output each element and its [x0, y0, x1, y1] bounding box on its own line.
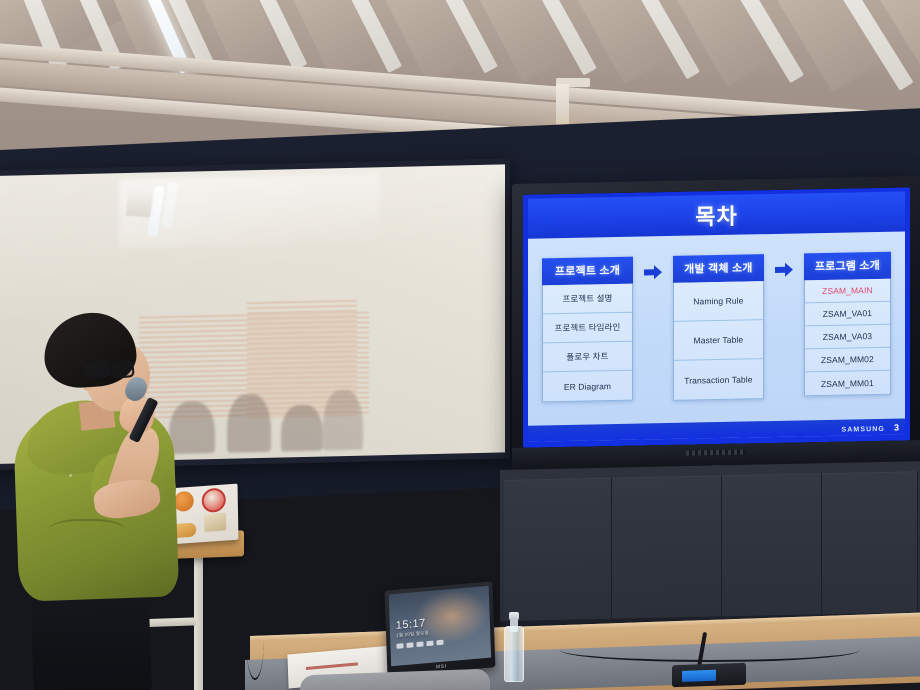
- slide-page-number: 3: [894, 423, 899, 433]
- speaker-vents: [686, 450, 746, 456]
- arrow-right-icon: [774, 260, 794, 280]
- slide-item: 프로젝트 타임라인: [543, 313, 632, 344]
- cabinet-door[interactable]: [822, 471, 918, 614]
- slide-item: Master Table: [674, 320, 763, 361]
- slide-footer: SAMSUNG 3: [842, 423, 900, 434]
- column-header: 프로그램 소개: [804, 252, 891, 281]
- column-items: ZSAM_MAIN ZSAM_VA01 ZSAM_VA03 ZSAM_MM02 …: [804, 279, 891, 397]
- slide-item: 프로젝트 설명: [543, 284, 632, 315]
- slide-item: Naming Rule: [674, 281, 763, 322]
- slide-item: ER Diagram: [543, 371, 632, 402]
- column-header: 개발 객체 소개: [673, 254, 764, 283]
- slide-item: ZSAM_VA03: [805, 325, 890, 350]
- cable: [246, 600, 264, 680]
- slide-item: ZSAM_MM02: [805, 348, 890, 373]
- lecture-room-photo: 목차 프로젝트 소개 프로젝트 설명 프로젝트 타임라인 플로우 차트 ER D…: [0, 0, 920, 690]
- cable: [560, 638, 860, 662]
- slide-column-2: 개발 객체 소개 Naming Rule Master Table Transa…: [673, 254, 764, 401]
- slide-item: Transaction Table: [674, 359, 763, 400]
- slide-column-1: 프로젝트 소개 프로젝트 설명 프로젝트 타임라인 플로우 차트 ER Diag…: [542, 257, 633, 403]
- microphone-control-console[interactable]: [672, 663, 746, 688]
- msi-laptop[interactable]: 15:17 1월 20일 월요일 MSI: [385, 581, 496, 676]
- lockscreen-status-icons: [396, 640, 443, 649]
- bottle-cap[interactable]: [509, 612, 519, 620]
- column-header: 프로젝트 소개: [542, 257, 633, 286]
- column-items: 프로젝트 설명 프로젝트 타임라인 플로우 차트 ER Diagram: [542, 284, 633, 403]
- slide-item: 플로우 차트: [543, 342, 632, 373]
- slide: 목차 프로젝트 소개 프로젝트 설명 프로젝트 타임라인 플로우 차트 ER D…: [523, 187, 910, 447]
- slide-item: ZSAM_MAIN: [805, 279, 890, 304]
- brand-logo: SAMSUNG: [842, 426, 885, 434]
- slide-item: ZSAM_VA01: [805, 302, 890, 327]
- presentation-display: 목차 프로젝트 소개 프로젝트 설명 프로젝트 타임라인 플로우 차트 ER D…: [512, 176, 920, 476]
- arrow-right-icon: [643, 262, 663, 282]
- cabinet-door[interactable]: [504, 478, 612, 621]
- slide-item: ZSAM_MM01: [805, 371, 890, 396]
- slide-body: 프로젝트 소개 프로젝트 설명 프로젝트 타임라인 플로우 차트 ER Diag…: [528, 231, 905, 441]
- presenter: [8, 305, 208, 690]
- cabinet-door[interactable]: [722, 473, 822, 616]
- water-bottle[interactable]: [504, 612, 524, 682]
- console-display: [682, 670, 716, 682]
- glasses-icon: [83, 360, 111, 380]
- cabinet-door[interactable]: [612, 475, 722, 618]
- column-items: Naming Rule Master Table Transaction Tab…: [673, 281, 764, 401]
- laptop-lockscreen[interactable]: 15:17 1월 20일 월요일: [389, 586, 491, 667]
- slide-column-3: 프로그램 소개 ZSAM_MAIN ZSAM_VA01 ZSAM_VA03 ZS…: [804, 252, 891, 397]
